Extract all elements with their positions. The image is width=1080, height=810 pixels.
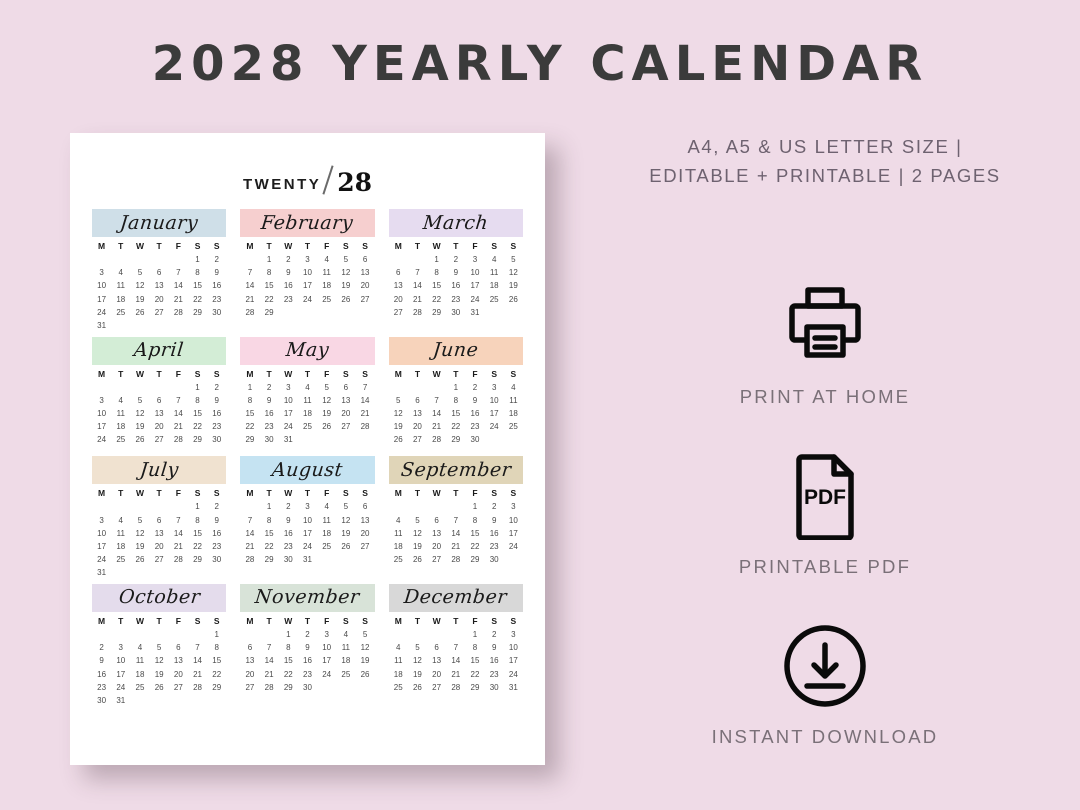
day-cell: 18 [317, 280, 336, 293]
day-cell: 14 [446, 527, 465, 540]
weekday-header-cell: S [207, 239, 226, 254]
calendar-brand: TWENTY 28 [70, 161, 545, 195]
day-cell-empty [130, 628, 149, 641]
week-row: 16171819202122 [92, 668, 226, 681]
day-cell: 20 [355, 280, 374, 293]
day-cell-empty [130, 319, 149, 332]
weekday-header-cell: T [298, 367, 317, 382]
week-row: 13141516171819 [389, 280, 523, 293]
day-cell-empty [207, 694, 226, 707]
weekday-header-cell: T [260, 614, 279, 629]
day-cell-empty [504, 554, 523, 567]
day-cell: 11 [317, 267, 336, 280]
day-cell: 4 [111, 267, 130, 280]
day-cell: 14 [169, 408, 188, 421]
day-cell: 23 [298, 668, 317, 681]
weekday-header-cell: W [130, 614, 149, 629]
day-cell: 25 [298, 421, 317, 434]
week-row: 12 [92, 501, 226, 514]
day-cell: 24 [279, 421, 298, 434]
month-table: MTWTFSS123456789101112131415161718192021… [389, 614, 523, 700]
week-row: 23242526272829 [92, 681, 226, 694]
day-cell: 16 [207, 527, 226, 540]
weekday-header-cell: F [169, 239, 188, 254]
weekday-header-cell: M [240, 614, 259, 629]
weekday-header-cell: W [427, 239, 446, 254]
day-cell: 30 [207, 554, 226, 567]
week-row: 10111213141516 [92, 527, 226, 540]
day-cell: 24 [92, 554, 111, 567]
day-cell: 14 [427, 408, 446, 421]
weekday-header-cell: W [427, 367, 446, 382]
day-cell-empty [336, 554, 355, 567]
day-cell-empty [298, 567, 317, 572]
day-cell: 8 [260, 514, 279, 527]
weekday-header-cell: T [298, 239, 317, 254]
day-cell-empty [111, 254, 130, 267]
weekday-header-cell: T [408, 486, 427, 501]
weekday-header-cell: S [336, 614, 355, 629]
day-cell-empty [355, 319, 374, 324]
day-cell: 5 [504, 254, 523, 267]
day-cell: 8 [240, 394, 259, 407]
day-cell: 11 [389, 655, 408, 668]
day-cell: 9 [207, 394, 226, 407]
weekday-header-cell: W [279, 367, 298, 382]
day-cell: 19 [355, 655, 374, 668]
day-cell: 5 [408, 642, 427, 655]
day-cell: 15 [188, 408, 207, 421]
day-cell: 30 [465, 434, 484, 447]
printer-icon [600, 280, 1050, 372]
day-cell: 14 [260, 655, 279, 668]
week-row: 18192021222324 [389, 540, 523, 553]
day-cell-empty [336, 306, 355, 319]
week-row: 78910111213 [240, 267, 374, 280]
weekday-header-row: MTWTFSS [240, 614, 374, 629]
day-cell-empty [408, 694, 427, 699]
day-cell: 4 [389, 514, 408, 527]
day-cell-empty [355, 434, 374, 447]
pdf-file-icon: PDF [600, 450, 1050, 542]
day-cell: 18 [389, 668, 408, 681]
day-cell: 28 [240, 306, 259, 319]
day-cell: 13 [169, 655, 188, 668]
day-cell-empty [188, 567, 207, 580]
day-cell-empty [298, 434, 317, 447]
day-cell: 21 [169, 540, 188, 553]
weekday-header-cell: M [92, 614, 111, 629]
day-cell-empty [485, 319, 504, 324]
week-row: 9101112131415 [92, 655, 226, 668]
week-row: 293031 [240, 434, 374, 447]
day-cell: 27 [408, 434, 427, 447]
day-cell: 30 [485, 681, 504, 694]
weekday-header-cell: F [465, 614, 484, 629]
weekday-header-cell: T [298, 614, 317, 629]
day-cell-empty [465, 694, 484, 699]
day-cell-empty [485, 434, 504, 447]
day-cell-empty [317, 306, 336, 319]
day-cell: 3 [279, 381, 298, 394]
day-cell: 15 [240, 408, 259, 421]
day-cell-empty [240, 254, 259, 267]
day-cell: 6 [427, 642, 446, 655]
month-header-january: January [92, 209, 226, 237]
day-cell-empty [504, 306, 523, 319]
day-cell: 22 [446, 421, 465, 434]
day-cell: 14 [446, 655, 465, 668]
weekday-header-cell: S [336, 486, 355, 501]
day-cell: 25 [317, 540, 336, 553]
day-cell-empty [389, 254, 408, 267]
day-cell: 8 [188, 394, 207, 407]
month-table: MTWTFSS123456789101112131415161718192021… [240, 239, 374, 325]
weekday-header-cell: F [169, 367, 188, 382]
day-cell: 29 [188, 554, 207, 567]
day-cell: 22 [279, 668, 298, 681]
day-cell: 7 [169, 267, 188, 280]
day-cell: 18 [336, 655, 355, 668]
day-cell: 25 [111, 554, 130, 567]
day-cell: 16 [207, 280, 226, 293]
day-cell-empty [92, 628, 111, 641]
day-cell-empty [446, 319, 465, 324]
week-row: 19202122232425 [389, 421, 523, 434]
day-cell-empty [336, 567, 355, 572]
weekday-header-cell: F [317, 239, 336, 254]
weekday-header-cell: T [408, 614, 427, 629]
weekday-header-cell: S [485, 614, 504, 629]
day-cell-empty [408, 628, 427, 641]
pdf-icon-text: PDF [804, 486, 846, 509]
day-cell: 17 [504, 527, 523, 540]
week-row [389, 447, 523, 452]
day-cell: 30 [207, 434, 226, 447]
day-cell: 25 [504, 421, 523, 434]
weekday-header-cell: T [408, 367, 427, 382]
day-cell: 22 [240, 421, 259, 434]
day-cell: 27 [355, 540, 374, 553]
day-cell-empty [298, 694, 317, 699]
weekday-header-row: MTWTFSS [389, 367, 523, 382]
day-cell: 17 [279, 408, 298, 421]
weekday-header-cell: T [260, 486, 279, 501]
weekday-header-row: MTWTFSS [389, 239, 523, 254]
day-cell: 24 [504, 540, 523, 553]
week-row: 78910111213 [240, 514, 374, 527]
week-row: 2829 [240, 306, 374, 319]
weekday-header-cell: F [317, 614, 336, 629]
week-row: 24252627282930 [92, 306, 226, 319]
month-header-may: May [240, 337, 374, 365]
day-cell-empty [298, 447, 317, 452]
weekday-header-cell: F [317, 367, 336, 382]
week-row: 20212223242526 [240, 668, 374, 681]
day-cell: 9 [485, 514, 504, 527]
day-cell: 10 [298, 514, 317, 527]
day-cell: 14 [240, 527, 259, 540]
day-cell: 19 [336, 280, 355, 293]
day-cell: 8 [279, 642, 298, 655]
day-cell: 3 [92, 514, 111, 527]
week-row: 24252627282930 [92, 434, 226, 447]
day-cell: 29 [465, 681, 484, 694]
week-row [389, 319, 523, 324]
day-cell: 9 [298, 642, 317, 655]
day-cell-empty [279, 319, 298, 324]
month-table: MTWTFSS123456789101112131415161718192021… [389, 486, 523, 572]
day-cell: 8 [465, 642, 484, 655]
day-cell: 2 [485, 628, 504, 641]
day-cell: 12 [317, 394, 336, 407]
day-cell-empty [150, 381, 169, 394]
day-cell: 14 [408, 280, 427, 293]
day-cell-empty [336, 434, 355, 447]
day-cell: 22 [465, 668, 484, 681]
day-cell: 6 [169, 642, 188, 655]
day-cell: 9 [207, 267, 226, 280]
day-cell: 30 [279, 554, 298, 567]
day-cell: 8 [260, 267, 279, 280]
day-cell: 11 [111, 527, 130, 540]
day-cell: 1 [446, 381, 465, 394]
day-cell: 10 [465, 267, 484, 280]
day-cell: 6 [150, 514, 169, 527]
day-cell: 2 [279, 254, 298, 267]
day-cell: 5 [130, 267, 149, 280]
month-header-august: August [240, 456, 374, 484]
day-cell: 17 [92, 540, 111, 553]
day-cell: 10 [92, 527, 111, 540]
month-header-october: October [92, 584, 226, 612]
day-cell: 14 [169, 527, 188, 540]
day-cell: 20 [150, 421, 169, 434]
month-block-december: DecemberMTWTFSS1234567891011121314151617… [389, 584, 523, 708]
day-cell: 2 [207, 254, 226, 267]
week-row: 3456789 [92, 514, 226, 527]
day-cell: 10 [485, 394, 504, 407]
day-cell-empty [504, 567, 523, 572]
day-cell: 28 [169, 434, 188, 447]
day-cell: 23 [485, 668, 504, 681]
day-cell-empty [504, 434, 523, 447]
day-cell-empty [111, 501, 130, 514]
weekday-header-cell: F [317, 486, 336, 501]
weekday-header-cell: T [150, 367, 169, 382]
day-cell-empty [188, 694, 207, 707]
day-cell: 30 [92, 694, 111, 707]
month-header-september: September [389, 456, 523, 484]
month-table: MTWTFSS123456789101112131415161718192021… [92, 614, 226, 708]
day-cell: 16 [485, 527, 504, 540]
weekday-header-cell: T [150, 614, 169, 629]
day-cell: 4 [336, 628, 355, 641]
day-cell: 4 [111, 394, 130, 407]
day-cell: 26 [355, 668, 374, 681]
day-cell-empty [150, 628, 169, 641]
day-cell-empty [465, 447, 484, 452]
day-cell: 23 [260, 421, 279, 434]
day-cell: 18 [130, 668, 149, 681]
day-cell-empty [389, 319, 408, 324]
day-cell: 18 [111, 540, 130, 553]
day-cell: 9 [92, 655, 111, 668]
day-cell: 23 [207, 540, 226, 553]
day-cell: 12 [504, 267, 523, 280]
day-cell: 1 [207, 628, 226, 641]
day-cell: 15 [260, 280, 279, 293]
weekday-header-cell: W [130, 239, 149, 254]
day-cell: 21 [169, 293, 188, 306]
day-cell: 18 [298, 408, 317, 421]
day-cell: 3 [317, 628, 336, 641]
day-cell: 3 [485, 381, 504, 394]
day-cell: 5 [336, 254, 355, 267]
day-cell: 7 [169, 394, 188, 407]
week-row: 24252627282930 [92, 554, 226, 567]
day-cell-empty [446, 501, 465, 514]
day-cell: 26 [130, 306, 149, 319]
day-cell: 20 [427, 540, 446, 553]
day-cell-empty [207, 447, 226, 452]
day-cell-empty [389, 381, 408, 394]
day-cell-empty [207, 567, 226, 580]
month-name-label: April [133, 341, 185, 360]
day-cell: 21 [240, 540, 259, 553]
day-cell: 19 [130, 421, 149, 434]
day-cell: 18 [111, 421, 130, 434]
day-cell: 29 [260, 554, 279, 567]
day-cell: 8 [446, 394, 465, 407]
day-cell: 22 [260, 540, 279, 553]
day-cell: 21 [240, 293, 259, 306]
day-cell: 2 [446, 254, 465, 267]
day-cell-empty [389, 567, 408, 572]
day-cell-empty [317, 319, 336, 324]
day-cell: 13 [355, 514, 374, 527]
day-cell: 10 [92, 280, 111, 293]
day-cell: 16 [298, 655, 317, 668]
day-cell: 28 [427, 434, 446, 447]
day-cell-empty [427, 628, 446, 641]
day-cell-empty [389, 628, 408, 641]
day-cell: 13 [389, 280, 408, 293]
week-row: 891011121314 [240, 394, 374, 407]
day-cell-empty [298, 306, 317, 319]
day-cell: 27 [169, 681, 188, 694]
day-cell-empty [389, 501, 408, 514]
month-name-label: October [118, 588, 201, 607]
day-cell-empty [336, 681, 355, 694]
day-cell: 21 [260, 668, 279, 681]
day-cell: 28 [260, 681, 279, 694]
day-cell-empty [465, 567, 484, 572]
day-cell: 20 [240, 668, 259, 681]
day-cell: 31 [92, 567, 111, 580]
day-cell-empty [169, 447, 188, 452]
day-cell: 14 [169, 280, 188, 293]
day-cell: 23 [465, 421, 484, 434]
day-cell: 15 [188, 527, 207, 540]
weekday-header-cell: S [504, 486, 523, 501]
day-cell: 16 [446, 280, 465, 293]
day-cell: 8 [207, 642, 226, 655]
day-cell: 20 [427, 668, 446, 681]
week-row: 28293031 [240, 554, 374, 567]
day-cell: 12 [130, 408, 149, 421]
day-cell-empty [408, 254, 427, 267]
day-cell: 21 [446, 540, 465, 553]
month-header-march: March [389, 209, 523, 237]
day-cell: 27 [150, 554, 169, 567]
day-cell-empty [207, 319, 226, 332]
day-cell: 24 [317, 668, 336, 681]
day-cell-empty [279, 306, 298, 319]
day-cell: 7 [188, 642, 207, 655]
day-cell: 7 [260, 642, 279, 655]
weekday-header-cell: T [260, 239, 279, 254]
day-cell-empty [260, 628, 279, 641]
day-cell: 17 [92, 293, 111, 306]
day-cell: 26 [317, 421, 336, 434]
day-cell: 4 [317, 501, 336, 514]
day-cell: 6 [355, 501, 374, 514]
day-cell: 25 [111, 434, 130, 447]
day-cell-empty [111, 628, 130, 641]
week-row: 12345 [389, 254, 523, 267]
day-cell-empty [427, 381, 446, 394]
day-cell-empty [188, 447, 207, 452]
day-cell: 12 [130, 280, 149, 293]
week-row: 567891011 [389, 394, 523, 407]
weekday-header-cell: F [465, 239, 484, 254]
day-cell-empty [150, 254, 169, 267]
day-cell-empty [298, 319, 317, 324]
week-row: 14151617181920 [240, 527, 374, 540]
day-cell: 15 [465, 655, 484, 668]
day-cell: 30 [485, 554, 504, 567]
day-cell: 12 [389, 408, 408, 421]
day-cell-empty [111, 381, 130, 394]
day-cell-empty [150, 447, 169, 452]
weekday-header-cell: T [298, 486, 317, 501]
weekday-header-cell: T [111, 239, 130, 254]
weekday-header-cell: M [389, 367, 408, 382]
subtitle-line-1: A4, A5 & US LETTER SIZE | [600, 133, 1050, 162]
weekday-header-cell: T [446, 239, 465, 254]
day-cell-empty [111, 567, 130, 580]
week-row: 31 [92, 319, 226, 332]
day-cell: 8 [465, 514, 484, 527]
day-cell-empty [169, 501, 188, 514]
day-cell-empty [169, 381, 188, 394]
day-cell: 7 [427, 394, 446, 407]
feature-print-label: PRINT AT HOME [600, 386, 1050, 408]
month-name-label: December [403, 588, 508, 607]
day-cell: 4 [389, 642, 408, 655]
month-name-label: September [400, 461, 512, 480]
day-cell: 16 [260, 408, 279, 421]
page-title: 2028 YEARLY CALENDAR [0, 36, 1080, 92]
week-row: 14151617181920 [240, 280, 374, 293]
day-cell: 11 [298, 394, 317, 407]
day-cell: 28 [446, 681, 465, 694]
month-header-june: June [389, 337, 523, 365]
month-block-november: NovemberMTWTFSS1234567891011121314151617… [240, 584, 374, 708]
day-cell: 22 [188, 293, 207, 306]
brand-year-label: 28 [337, 170, 372, 195]
